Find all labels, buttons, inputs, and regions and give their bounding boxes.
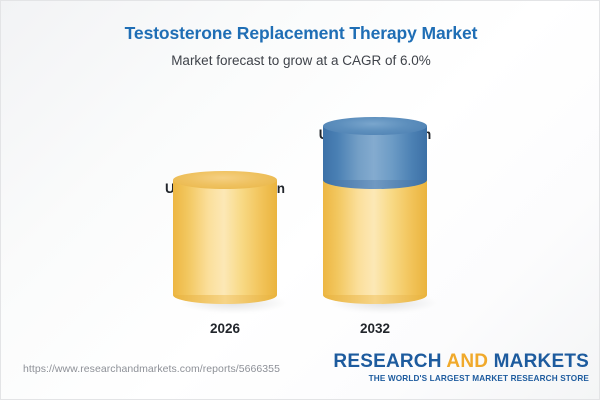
infographic-card: Testosterone Replacement Therapy Market … bbox=[0, 0, 600, 400]
brand-word-and: AND bbox=[446, 351, 493, 372]
report-url[interactable]: https://www.researchandmarkets.com/repor… bbox=[23, 363, 280, 375]
chart-title: Testosterone Replacement Therapy Market bbox=[1, 23, 600, 44]
bar-segment-base-2026 bbox=[173, 171, 277, 304]
brand-wordmark: RESEARCH AND MARKETS bbox=[333, 352, 589, 372]
footer: https://www.researchandmarkets.com/repor… bbox=[1, 344, 600, 399]
cylinder-body bbox=[173, 180, 277, 295]
x-axis-label-2026: 2026 bbox=[210, 321, 240, 336]
brand-word-markets: MARKETS bbox=[494, 351, 589, 372]
cylinder-top-ellipse bbox=[323, 117, 427, 135]
brand-tagline: THE WORLD'S LARGEST MARKET RESEARCH STOR… bbox=[333, 374, 589, 383]
chart-subtitle: Market forecast to grow at a CAGR of 6.0… bbox=[1, 53, 600, 68]
bar-segment-growth-2032 bbox=[323, 117, 427, 189]
chart-plot-area: USD 955.76 Million 2026 USD 1,340 Millio… bbox=[1, 81, 600, 346]
cylinder-body bbox=[323, 180, 427, 295]
brand-logo[interactable]: RESEARCH AND MARKETS THE WORLD'S LARGEST… bbox=[333, 352, 589, 383]
bar-cylinder-2026[interactable] bbox=[173, 171, 277, 304]
x-axis-label-2032: 2032 bbox=[360, 321, 390, 336]
bar-segment-base-2032 bbox=[323, 171, 427, 304]
brand-word-research: RESEARCH bbox=[333, 351, 446, 372]
bar-cylinder-2032[interactable] bbox=[323, 117, 427, 304]
cylinder-top-ellipse bbox=[173, 171, 277, 189]
